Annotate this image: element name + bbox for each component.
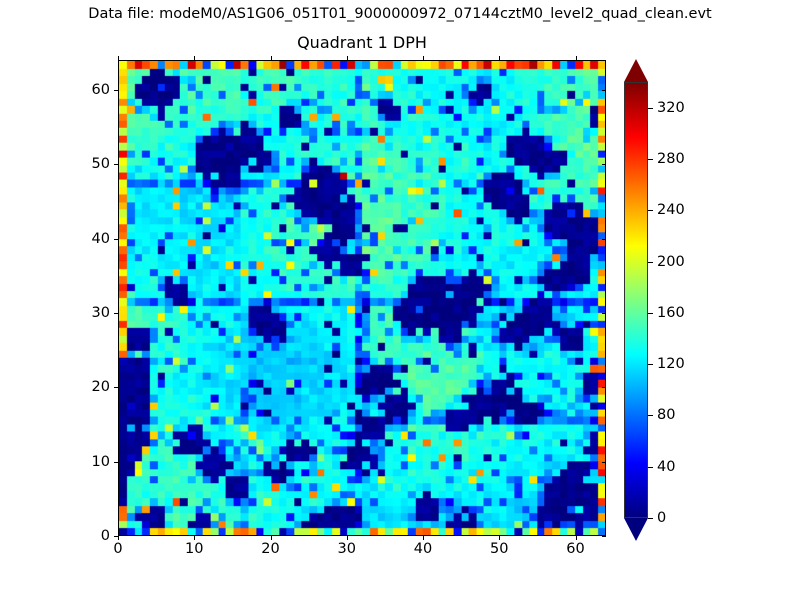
y-tick-label: 20	[92, 379, 110, 395]
colorbar-tick-mark	[648, 415, 653, 416]
x-tick-label: 40	[414, 541, 432, 557]
y-tick-label: 10	[92, 454, 110, 470]
colorbar-tick-mark	[648, 313, 653, 314]
colorbar-tick-label: 240	[657, 202, 685, 218]
colorbar-tick-label: 40	[657, 459, 675, 475]
x-tick-mark-top	[118, 56, 119, 60]
colorbar-tick-mark	[648, 518, 653, 519]
colorbar[interactable]	[624, 60, 648, 540]
colorbar-tick-mark	[648, 262, 653, 263]
x-tick-mark-top	[347, 56, 348, 60]
y-tick-mark-right	[602, 164, 606, 165]
x-tick-mark-top	[194, 56, 195, 60]
x-tick-label: 60	[566, 541, 584, 557]
axes-title: Quadrant 1 DPH	[118, 33, 606, 52]
y-tick-mark-right	[602, 387, 606, 388]
y-tick-mark-right	[602, 313, 606, 314]
y-tick-mark	[114, 462, 118, 463]
heatmap-axes[interactable]	[118, 60, 606, 536]
y-tick-mark	[114, 387, 118, 388]
x-tick-mark	[118, 536, 119, 540]
colorbar-tick-label: 200	[657, 254, 685, 270]
figure-suptitle: Data file: modeM0/AS1G06_051T01_90000009…	[0, 6, 800, 22]
colorbar-tick-mark	[648, 108, 653, 109]
colorbar-tick-label: 280	[657, 151, 685, 167]
x-tick-mark	[194, 536, 195, 540]
x-tick-label: 20	[261, 541, 279, 557]
x-tick-mark	[499, 536, 500, 540]
colorbar-tick-label: 120	[657, 356, 685, 372]
y-tick-label: 50	[92, 156, 110, 172]
y-tick-mark	[114, 164, 118, 165]
y-tick-mark-right	[602, 90, 606, 91]
y-tick-mark-right	[602, 536, 606, 537]
y-tick-mark	[114, 90, 118, 91]
y-tick-label: 0	[101, 528, 110, 544]
y-tick-mark	[114, 313, 118, 314]
colorbar-tick-mark	[648, 210, 653, 211]
detector-heatmap-image	[119, 61, 605, 535]
colorbar-gradient	[624, 82, 648, 518]
y-tick-mark	[114, 536, 118, 537]
y-tick-mark	[114, 239, 118, 240]
y-tick-label: 40	[92, 231, 110, 247]
x-tick-mark-top	[271, 56, 272, 60]
x-tick-label: 30	[338, 541, 356, 557]
colorbar-extend-bottom-arrow	[624, 518, 648, 541]
x-tick-mark	[576, 536, 577, 540]
colorbar-tick-label: 320	[657, 100, 685, 116]
colorbar-tick-mark	[648, 364, 653, 365]
x-tick-mark	[347, 536, 348, 540]
colorbar-tick-label: 160	[657, 305, 685, 321]
x-tick-mark	[271, 536, 272, 540]
x-tick-mark-top	[423, 56, 424, 60]
y-tick-mark-right	[602, 462, 606, 463]
colorbar-tick-mark	[648, 467, 653, 468]
x-tick-mark	[423, 536, 424, 540]
x-tick-label: 50	[490, 541, 508, 557]
x-tick-mark-top	[499, 56, 500, 60]
y-tick-mark-right	[602, 239, 606, 240]
figure-canvas: Data file: modeM0/AS1G06_051T01_90000009…	[0, 0, 800, 600]
x-tick-label: 0	[113, 541, 122, 557]
x-tick-label: 10	[185, 541, 203, 557]
colorbar-extend-top-arrow	[624, 59, 648, 82]
x-tick-mark-top	[576, 56, 577, 60]
y-tick-label: 60	[92, 82, 110, 98]
colorbar-tick-label: 0	[657, 510, 666, 526]
y-tick-label: 30	[92, 305, 110, 321]
colorbar-tick-mark	[648, 159, 653, 160]
colorbar-tick-label: 80	[657, 407, 675, 423]
